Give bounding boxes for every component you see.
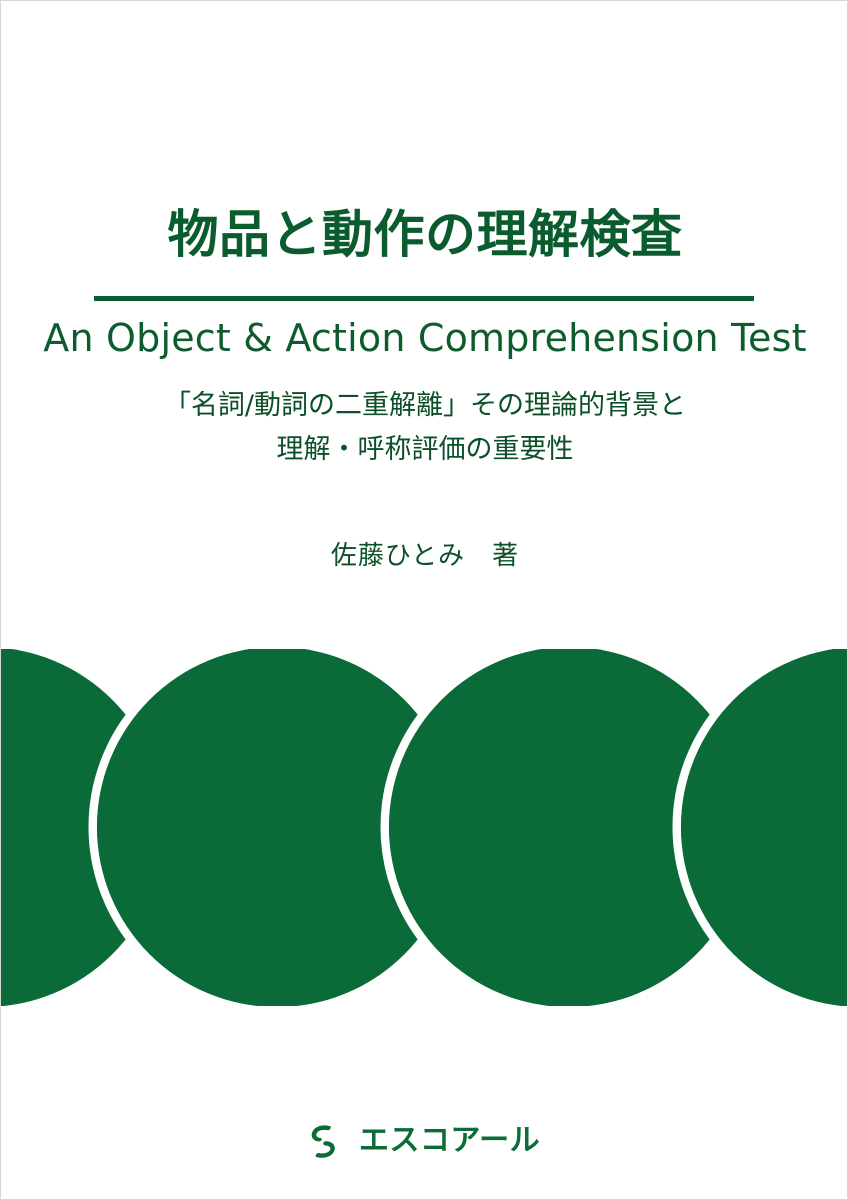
title-block: 物品と動作の理解検査 bbox=[1, 207, 848, 264]
escoal-s-mark-icon bbox=[310, 1123, 350, 1159]
publisher-logo: エスコアール bbox=[1, 1123, 848, 1159]
subtitle: 「名詞/動詞の二重解離」その理論的背景と 理解・呼称評価の重要性 bbox=[1, 384, 848, 471]
circle-decoration-band bbox=[1, 649, 848, 1006]
title-divider bbox=[94, 296, 754, 301]
book-cover-page: 物品と動作の理解検査 An Object & Action Comprehens… bbox=[0, 0, 848, 1200]
author-credit: 佐藤ひとみ 著 bbox=[1, 535, 848, 572]
subtitle-line-2: 理解・呼称評価の重要性 bbox=[1, 428, 848, 472]
page-title: 物品と動作の理解検査 bbox=[1, 207, 848, 264]
english-title: An Object & Action Comprehension Test bbox=[1, 315, 848, 361]
publisher-name: エスコアール bbox=[359, 1126, 540, 1156]
subtitle-line-1: 「名詞/動詞の二重解離」その理論的背景と bbox=[1, 384, 848, 428]
circle-decoration-graphic bbox=[1, 649, 848, 1006]
